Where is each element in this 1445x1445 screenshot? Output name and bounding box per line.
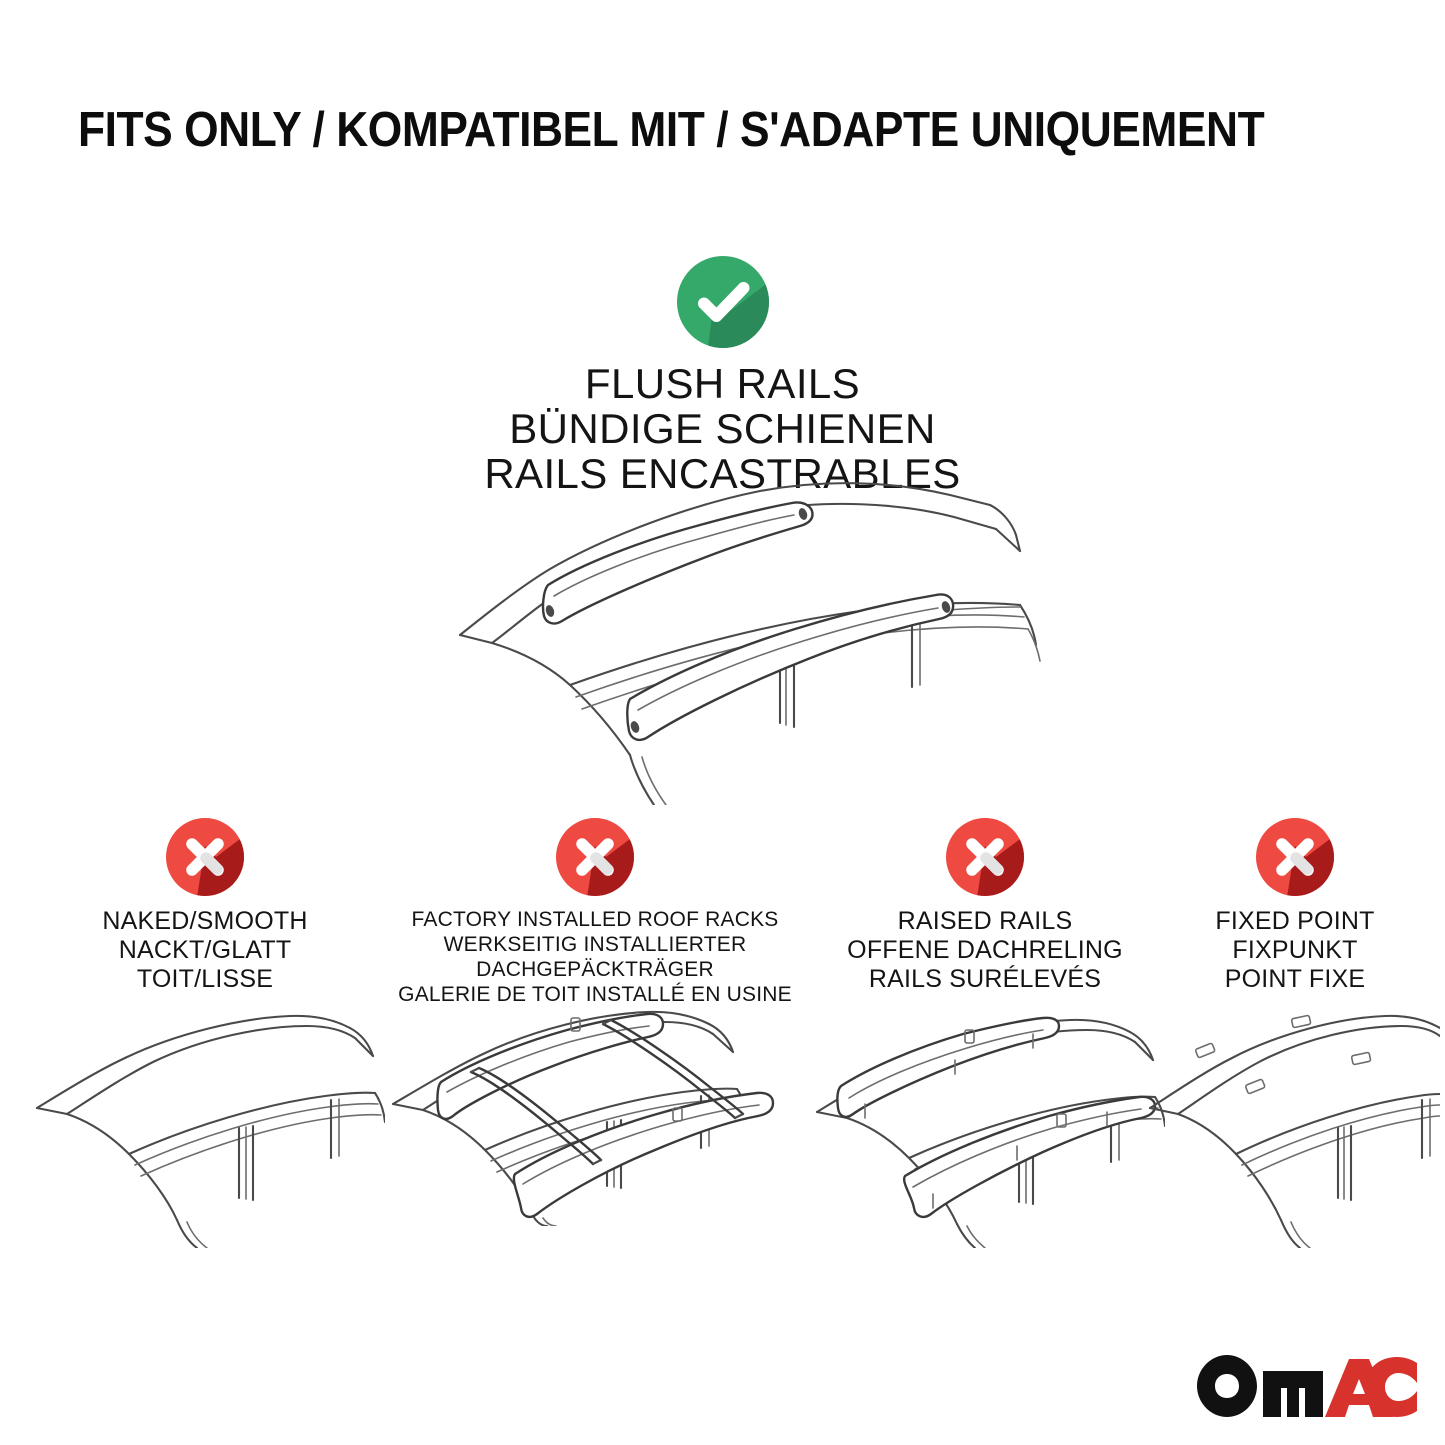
car-roof-factory-roof-rack-illustration: [375, 1008, 815, 1248]
incompatible-section: NAKED/SMOOTH NACKT/GLATT TOIT/LISSE: [0, 818, 1445, 1258]
red-x-icon: [946, 818, 1024, 896]
label-line-en: FACTORY INSTALLED ROOF RACKS: [375, 907, 815, 932]
compatible-label-de: BÜNDIGE SCHIENEN: [0, 406, 1445, 451]
compatible-section: FLUSH RAILS BÜNDIGE SCHIENEN RAILS ENCAS…: [0, 256, 1445, 496]
label-line-en: FIXED POINT: [1145, 907, 1445, 936]
label-line-de-1: WERKSEITIG INSTALLIERTER: [375, 932, 815, 957]
incompatible-item-fixed-point: FIXED POINT FIXPUNKT POINT FIXE: [1145, 818, 1445, 994]
omac-logo: [1197, 1355, 1417, 1417]
label-line-fr: RAILS SURÉLEVÉS: [805, 965, 1165, 994]
label-line-fr: TOIT/LISSE: [25, 965, 385, 994]
label-line-fr: POINT FIXE: [1145, 965, 1445, 994]
red-x-icon: [556, 818, 634, 896]
car-roof-with-flush-rails-illustration: [430, 465, 1070, 805]
car-roof-fixed-point-illustration: [1145, 1008, 1445, 1248]
label-line-de: OFFENE DACHRELING: [805, 936, 1165, 965]
incompatible-item-raised-rails: RAISED RAILS OFFENE DACHRELING RAILS SUR…: [805, 818, 1165, 994]
red-x-icon: [166, 818, 244, 896]
red-x-icon: [1256, 818, 1334, 896]
car-roof-naked-smooth-illustration: [25, 1008, 385, 1248]
car-roof-raised-rails-illustration: [805, 1008, 1165, 1248]
incompatible-labels-raised-rails: RAISED RAILS OFFENE DACHRELING RAILS SUR…: [805, 907, 1165, 994]
label-line-en: RAISED RAILS: [805, 907, 1165, 936]
label-line-de: NACKT/GLATT: [25, 936, 385, 965]
label-line-en: NAKED/SMOOTH: [25, 907, 385, 936]
compatible-label-en: FLUSH RAILS: [0, 361, 1445, 406]
green-check-icon: [677, 256, 769, 348]
incompatible-item-factory-roof-racks: FACTORY INSTALLED ROOF RACKS WERKSEITIG …: [375, 818, 815, 1007]
incompatible-labels-naked-smooth: NAKED/SMOOTH NACKT/GLATT TOIT/LISSE: [25, 907, 385, 994]
label-line-de: FIXPUNKT: [1145, 936, 1445, 965]
incompatible-item-naked-smooth: NAKED/SMOOTH NACKT/GLATT TOIT/LISSE: [25, 818, 385, 994]
label-line-de-2: DACHGEPÄCKTRÄGER: [375, 957, 815, 982]
incompatible-labels-fixed-point: FIXED POINT FIXPUNKT POINT FIXE: [1145, 907, 1445, 994]
page-title: FITS ONLY / KOMPATIBEL MIT / S'ADAPTE UN…: [78, 106, 1255, 155]
